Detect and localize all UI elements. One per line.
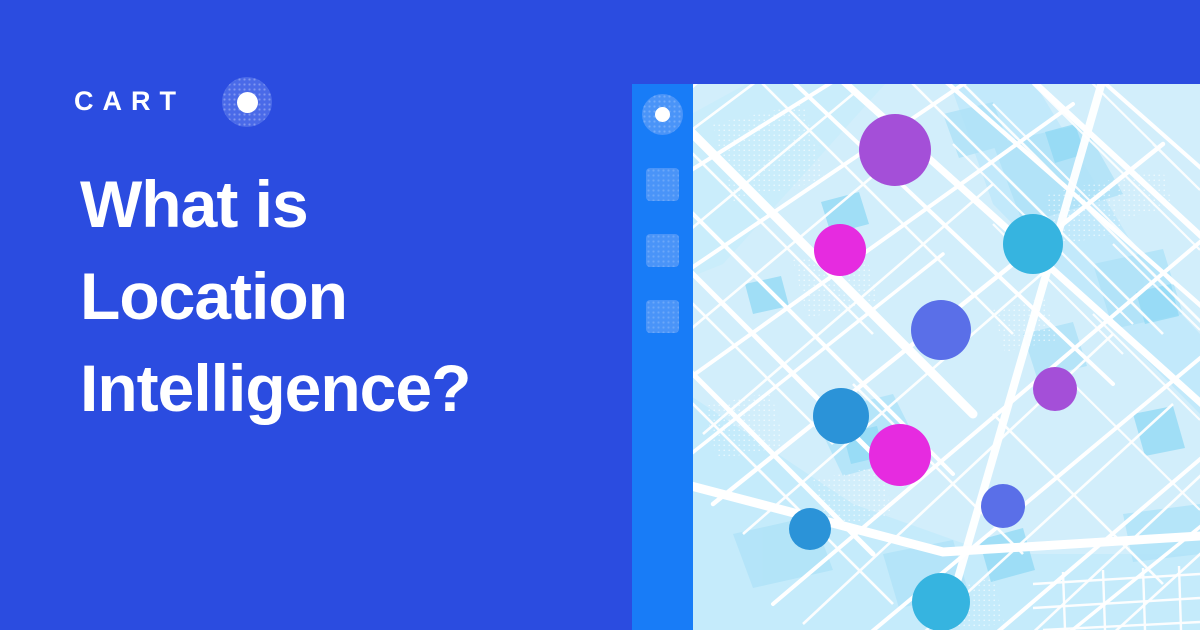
page-title-line-3: Intelligence? <box>80 342 620 434</box>
carto-logo-text: CART <box>74 84 185 118</box>
sidebar-tile-icon <box>646 300 679 333</box>
marker-cyan-2[interactable] <box>912 573 970 630</box>
widgets-icon[interactable] <box>646 168 679 201</box>
layers-active-icon[interactable] <box>642 94 683 135</box>
sidebar-active-dot-icon <box>655 107 670 122</box>
marker-cyan-1[interactable] <box>1003 214 1063 274</box>
carto-logo[interactable]: CART <box>74 78 274 124</box>
data-sources-icon[interactable] <box>646 234 679 267</box>
page-title-line-2: Location <box>80 250 620 342</box>
sidebar-tile-icon <box>646 234 679 267</box>
marker-periwinkle-1[interactable] <box>911 300 971 360</box>
sidebar-tile-icon <box>646 168 679 201</box>
marker-blue-2[interactable] <box>789 508 831 550</box>
app-sidebar <box>632 84 693 630</box>
carto-logo-dot-icon <box>237 92 258 113</box>
og-banner: CART What is Location Intelligence? <box>0 0 1200 630</box>
map-canvas[interactable] <box>693 84 1200 630</box>
marker-magenta-2[interactable] <box>869 424 931 486</box>
marker-purple-1[interactable] <box>859 114 931 186</box>
page-title-line-1: What is <box>80 158 620 250</box>
app-preview-panel <box>632 84 1200 630</box>
marker-blue-1[interactable] <box>813 388 869 444</box>
page-title: What is Location Intelligence? <box>80 158 620 434</box>
settings-icon[interactable] <box>646 300 679 333</box>
marker-purple-2[interactable] <box>1033 367 1077 411</box>
marker-magenta-1[interactable] <box>814 224 866 276</box>
marker-periwinkle-2[interactable] <box>981 484 1025 528</box>
